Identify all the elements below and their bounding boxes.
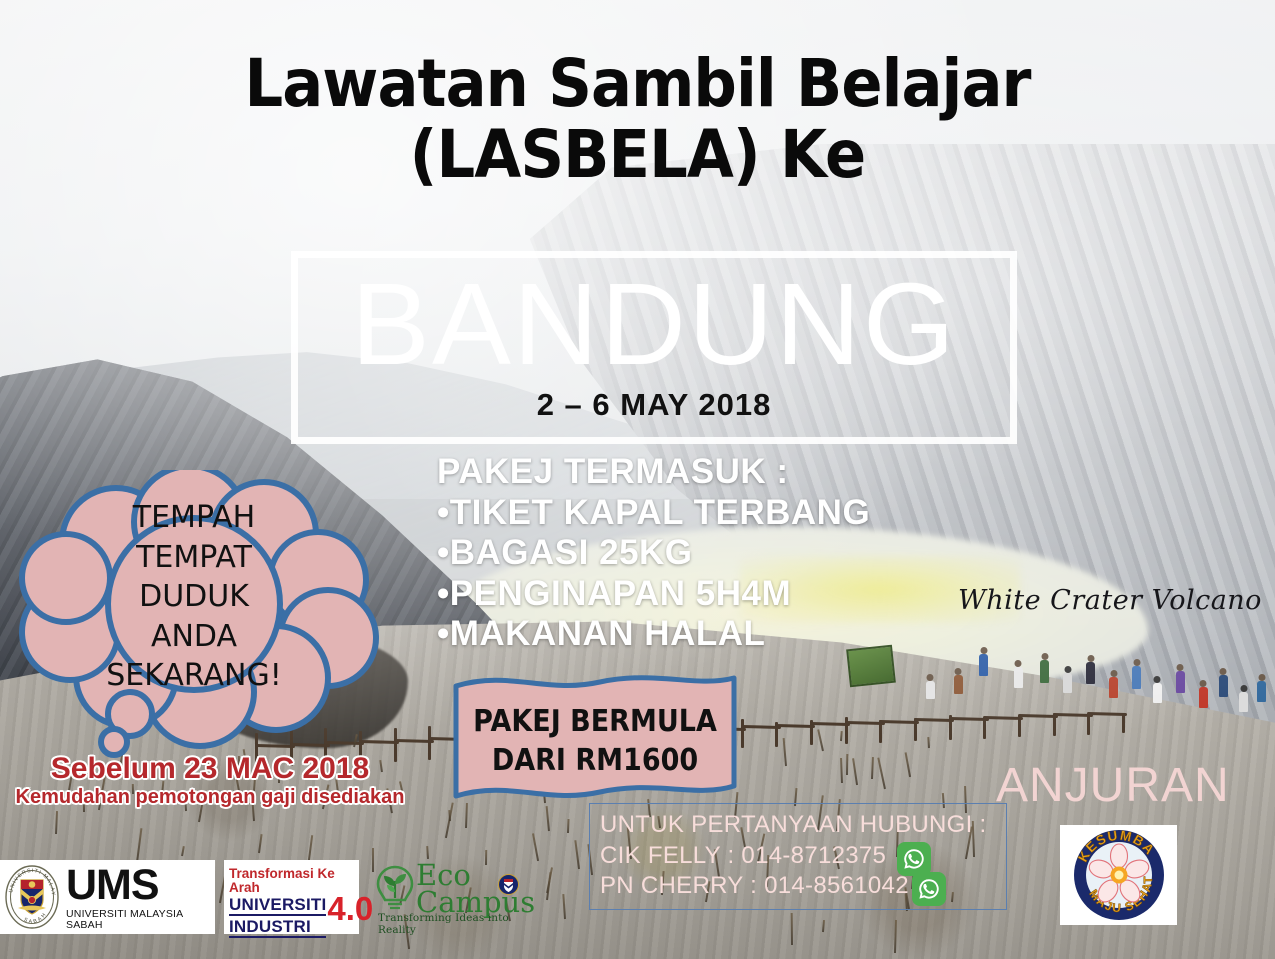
fence-post <box>741 719 744 748</box>
thought-bubble-line: TEMPAT <box>8 538 380 578</box>
fence-post <box>428 726 431 761</box>
fence-rail <box>914 718 954 722</box>
whatsapp-icon[interactable] <box>912 872 946 906</box>
tourist-head <box>1110 670 1117 677</box>
tourist-head <box>980 647 987 654</box>
logo-ums: UNIVERSITI MALAYSIA SABAH UMS UNIVERSITI… <box>0 860 215 934</box>
tourist-figure <box>1239 692 1248 712</box>
thought-bubble-line: TEMPAH <box>8 498 380 538</box>
tourist-head <box>1087 655 1094 662</box>
package-item: •BAGASI 25KG <box>437 533 870 574</box>
kesumba-emblem-icon: KESUMBA MAJU SEHATI <box>1071 827 1167 923</box>
destination-box: BANDUNG 2 – 6 MAY 2018 <box>291 251 1017 444</box>
package-inclusions: PAKEJ TERMASUK : •TIKET KAPAL TERBANG •B… <box>437 452 870 655</box>
grass-stalk <box>426 846 429 859</box>
deadline-note: Kemudahan pemotongan gaji disediakan <box>0 785 420 810</box>
thought-bubble-text: TEMPAHTEMPATDUDUKANDASEKARANG! <box>8 498 380 696</box>
thought-bubble-line: ANDA <box>8 617 380 657</box>
tourist-head <box>1015 660 1022 667</box>
tourist-figure <box>1176 671 1185 693</box>
price-banner-line-2: DARI RM1600 <box>465 741 726 780</box>
poster-canvas: Lawatan Sambil Belajar (LASBELA) Ke BAND… <box>0 0 1275 959</box>
fence-post <box>983 718 986 739</box>
ums-crest-icon: UNIVERSITI MALAYSIA SABAH <box>4 864 60 930</box>
tourist-figure <box>1199 687 1208 708</box>
eco-ums-seal-icon <box>498 874 519 895</box>
ums-wordmark: UMS UNIVERSITI MALAYSIA SABAH <box>66 864 215 930</box>
destination-name: BANDUNG <box>351 272 957 376</box>
title-line-2: (LASBELA) Ke <box>51 119 1224 190</box>
eco-campus-tagline: Transforming Ideas into Reality <box>378 912 522 936</box>
tourist-figure <box>1109 677 1118 698</box>
thought-bubble-line: SEKARANG! <box>8 656 380 696</box>
contact-heading: UNTUK PERTANYAAN HUBUNGI : <box>600 810 987 841</box>
logo-eco-campus: Eco Campus Transforming Ideas into Reali… <box>372 862 522 934</box>
tourist-figure <box>1063 673 1072 693</box>
tourist-figure <box>1132 666 1141 689</box>
trip-dates: 2 – 6 MAY 2018 <box>537 387 772 423</box>
tourist-figure <box>1086 662 1095 684</box>
package-item: •MAKANAN HALAL <box>437 614 870 655</box>
organiser-label: ANJURAN <box>996 758 1230 813</box>
fence-rail <box>1018 714 1058 718</box>
ums-abbrev: UMS <box>66 864 215 907</box>
tourist-head <box>1154 676 1161 683</box>
i40-number: 4.0 <box>327 895 373 922</box>
tourist-figure <box>926 681 935 699</box>
registration-deadline: Sebelum 23 MAC 2018 Kemudahan pemotongan… <box>0 752 420 810</box>
deadline-date: Sebelum 23 MAC 2018 <box>0 752 420 785</box>
tourist-head <box>1258 674 1265 681</box>
price-banner: PAKEJ BERMULA DARI RM1600 <box>450 668 740 808</box>
grass-stalk <box>448 810 451 821</box>
fence-rail <box>775 724 815 728</box>
fence-rail <box>810 722 850 726</box>
i40-word-industri: INDUSTRI <box>229 918 326 938</box>
tourist-figure <box>979 654 988 676</box>
tourist-head <box>927 674 934 681</box>
thought-bubble-line: DUDUK <box>8 577 380 617</box>
logo-kesumba: KESUMBA MAJU SEHATI <box>1060 825 1177 925</box>
ums-full-name: UNIVERSITI MALAYSIA SABAH <box>66 909 215 930</box>
tourist-head <box>1177 664 1184 671</box>
whatsapp-glyph <box>902 847 926 871</box>
i40-word-universiti: UNIVERSITI <box>229 896 326 916</box>
tourist-figure <box>954 675 963 694</box>
tourist-figure <box>1219 675 1228 697</box>
tourist-head <box>1220 668 1227 675</box>
package-heading: PAKEJ TERMASUK : <box>437 452 870 493</box>
tourist-head <box>1064 666 1071 673</box>
thought-bubble-callout: TEMPAHTEMPATDUDUKANDASEKARANG! <box>8 470 380 770</box>
eco-bulb-leaf-icon <box>372 864 418 912</box>
tourist-head <box>955 668 962 675</box>
fence-post <box>1087 716 1090 735</box>
price-banner-line-1: PAKEJ BERMULA <box>465 702 726 741</box>
whatsapp-icon[interactable] <box>897 842 931 876</box>
tourist-figure <box>1014 667 1023 688</box>
fence-rail <box>879 720 919 724</box>
grass-stalk <box>567 819 570 833</box>
title-line-1: Lawatan Sambil Belajar <box>244 45 1030 122</box>
logo-universiti-industri-40: Transformasi Ke Arah UNIVERSITI INDUSTRI… <box>224 860 359 934</box>
tourist-figure <box>1257 681 1266 702</box>
poster-title: Lawatan Sambil Belajar (LASBELA) Ke <box>51 48 1224 191</box>
photo-caption: White Crater Volcano <box>958 585 1262 616</box>
whatsapp-glyph <box>917 877 941 901</box>
fence-post <box>1122 713 1125 733</box>
package-item: •TIKET KAPAL TERBANG <box>437 493 870 534</box>
tourist-figure <box>1153 683 1162 703</box>
tourist-head <box>1240 685 1247 692</box>
tourist-head <box>1133 659 1140 666</box>
tourist-head <box>1041 653 1048 660</box>
tourist-head <box>1200 680 1207 687</box>
package-item: •PENGINAPAN 5H4M <box>437 574 870 615</box>
tourist-figure <box>1040 660 1049 683</box>
price-banner-text: PAKEJ BERMULA DARI RM1600 <box>465 702 726 780</box>
fence-rail <box>1087 712 1127 716</box>
